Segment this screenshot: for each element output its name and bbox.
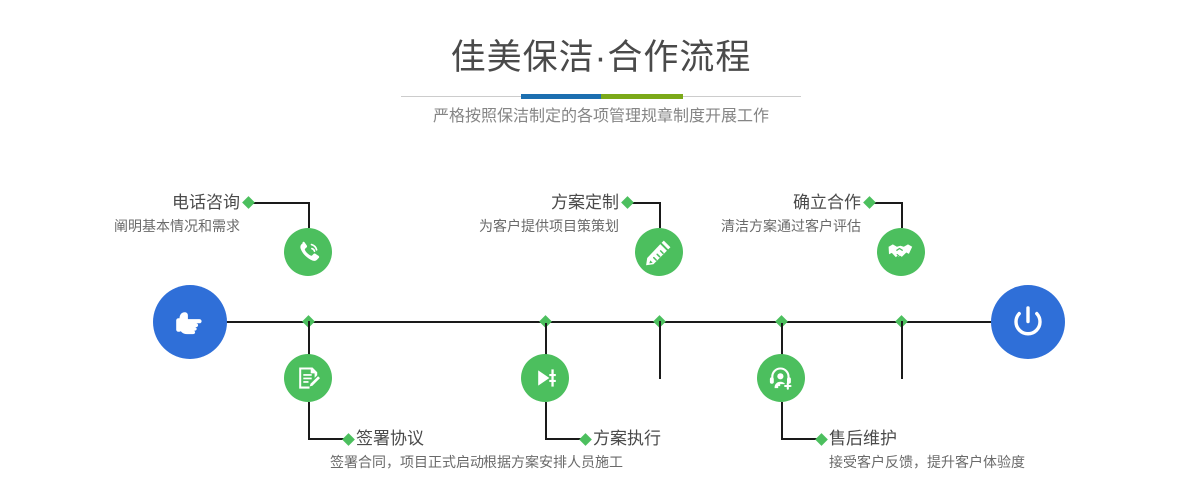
timeline-label-marker (621, 196, 634, 209)
step-description: 阐明基本情况和需求 (30, 216, 240, 236)
handshake-icon (886, 237, 916, 267)
document-edit-icon (293, 363, 323, 393)
step-description: 清洁方案通过客户评估 (652, 216, 861, 236)
connector-vertical (308, 402, 310, 440)
timeline-end-endpoint[interactable] (991, 285, 1065, 359)
step-description: 根据方案安排人员施工 (483, 452, 623, 472)
customer-service-icon (766, 363, 796, 393)
step-title: 方案定制 (440, 192, 619, 214)
page-header: 佳美保洁·合作流程 严格按照保洁制定的各项管理规章制度开展工作 (0, 0, 1202, 150)
pointing-hand-icon (170, 302, 210, 342)
step-icon-phone-call[interactable] (284, 228, 332, 276)
timeline-label-marker (579, 433, 592, 446)
connector-horizontal (248, 202, 308, 204)
title-divider (401, 94, 801, 99)
connector-vertical (901, 321, 903, 379)
step-description: 签署合同，项目正式启动 (330, 452, 484, 472)
timeline-label-marker (342, 433, 355, 446)
step-title: 方案执行 (593, 428, 661, 450)
connector-vertical (308, 202, 310, 228)
step-title: 电话咨询 (60, 192, 240, 214)
step-title: 签署协议 (356, 428, 424, 450)
timeline-label-marker (242, 196, 255, 209)
step-icon-document-edit[interactable] (284, 354, 332, 402)
page-title: 佳美保洁·合作流程 (0, 36, 1202, 80)
timeline-label-marker (815, 433, 828, 446)
step-title: 确立合作 (682, 192, 861, 214)
step-icon-customer-service[interactable] (757, 354, 805, 402)
connector-vertical (781, 402, 783, 440)
page-subtitle: 严格按照保洁制定的各项管理规章制度开展工作 (0, 105, 1202, 129)
pencil-ruler-icon (644, 237, 674, 267)
timeline-axis (155, 321, 1045, 323)
play-execute-icon (530, 363, 560, 393)
divider-segment-blue (521, 94, 601, 99)
process-timeline: 电话咨询 阐明基本情况和需求 签署协议 签署合同，项目正式启动 方案定制 为客户… (0, 150, 1202, 502)
connector-vertical (659, 321, 661, 379)
connector-vertical (901, 202, 903, 228)
power-icon (1007, 301, 1049, 343)
phone-call-icon (293, 237, 323, 267)
step-description: 为客户提供项目策策划 (410, 216, 619, 236)
divider-segment-green (601, 94, 683, 99)
connector-vertical (545, 402, 547, 440)
timeline-start-endpoint[interactable] (153, 285, 227, 359)
step-description: 接受客户反馈，提升客户体验度 (829, 452, 1025, 472)
step-icon-play-execute[interactable] (521, 354, 569, 402)
step-title: 售后维护 (829, 428, 897, 450)
timeline-label-marker (863, 196, 876, 209)
step-icon-handshake[interactable] (877, 228, 925, 276)
